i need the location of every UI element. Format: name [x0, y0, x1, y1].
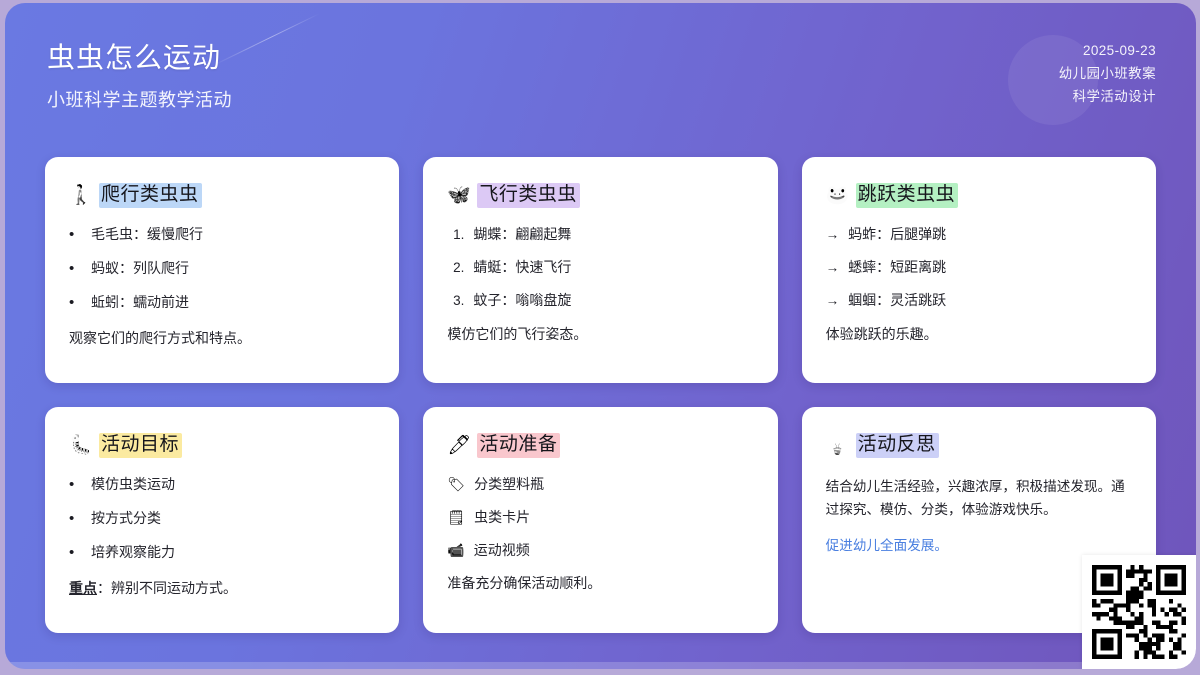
slide-header: 虫虫怎么运动 小班科学主题教学活动 2025-09-23 幼儿园小班教案 科学活… — [47, 39, 1156, 112]
list-item-text: 蜻蜓：快速飞行 — [473, 258, 571, 277]
list-item: •按方式分类 — [69, 509, 375, 529]
card: 🐛活动目标•模仿虫类运动•按方式分类•培养观察能力重点：辨别不同运动方式。 — [45, 407, 399, 633]
card-header: 🐛活动目标 — [69, 433, 375, 458]
list-marker: • — [69, 509, 82, 529]
card: 🖊活动准备🏷分类塑料瓶🗒虫类卡片📹运动视频准备充分确保活动顺利。 — [423, 407, 777, 633]
list-marker: 🏷 — [447, 475, 465, 494]
card-header: 🦋飞行类虫虫 — [447, 183, 753, 208]
card-header: 🐸跳跃类虫虫 — [826, 183, 1132, 208]
meta-subject: 科学活动设计 — [1059, 85, 1156, 108]
header-titles: 虫虫怎么运动 小班科学主题教学活动 — [47, 39, 232, 112]
decorative-bottom-strip — [5, 662, 1196, 669]
list-item: 🗒虫类卡片 — [447, 508, 753, 527]
list-marker: → — [826, 259, 840, 277]
list-item-text: 蚊子：嗡嗡盘旋 — [473, 291, 571, 310]
card-list: →蚂蚱：后腿弹跳→蟋蟀：短距离跳→蝈蝈：灵活跳跃 — [826, 225, 1132, 311]
list-item: 📹运动视频 — [447, 541, 753, 560]
card-list: 🏷分类塑料瓶🗒虫类卡片📹运动视频 — [447, 475, 753, 560]
list-item-text: 培养观察能力 — [91, 543, 175, 562]
meta-date: 2025-09-23 — [1059, 39, 1156, 62]
butterfly-icon: 🦋 — [447, 186, 469, 205]
list-item: →蚂蚱：后腿弹跳 — [826, 225, 1132, 244]
list-item: →蟋蟀：短距离跳 — [826, 258, 1132, 277]
list-marker: 📹 — [447, 541, 464, 560]
card: 🦋飞行类虫虫1.蝴蝶：翩翩起舞2.蜻蜓：快速飞行3.蚊子：嗡嗡盘旋模仿它们的飞行… — [423, 157, 777, 383]
card-paragraph: 结合幼儿生活经验，兴趣浓厚，积极描述发现。通过探究、模仿、分类，体验游戏快乐。 — [826, 475, 1132, 522]
slide-frame: 虫虫怎么运动 小班科学主题教学活动 2025-09-23 幼儿园小班教案 科学活… — [0, 0, 1200, 675]
card: 🐸跳跃类虫虫→蚂蚱：后腿弹跳→蟋蟀：短距离跳→蝈蝈：灵活跳跃体验跳跃的乐趣。 — [802, 157, 1156, 383]
list-item: →蝈蝈：灵活跳跃 — [826, 291, 1132, 310]
list-item: 3.蚊子：嗡嗡盘旋 — [447, 291, 753, 310]
lightbulb-icon: 💡 — [826, 436, 848, 455]
card-list: •模仿虫类运动•按方式分类•培养观察能力 — [69, 475, 375, 564]
card: 🚶爬行类虫虫•毛毛虫：缓慢爬行•蚂蚁：列队爬行•蚯蚓：蠕动前进观察它们的爬行方式… — [45, 157, 399, 383]
page-subtitle: 小班科学主题教学活动 — [47, 86, 232, 112]
card-header: 🖊活动准备 — [447, 433, 753, 458]
list-item-text: 毛毛虫：缓慢爬行 — [91, 225, 203, 244]
card-title: 跳跃类虫虫 — [856, 183, 959, 208]
list-marker: • — [69, 475, 82, 495]
list-marker: 3. — [447, 292, 464, 310]
card-highlight-text[interactable]: 促进幼儿全面发展。 — [826, 535, 1132, 557]
list-marker: • — [69, 293, 82, 313]
list-item-text: 蝈蝈：灵活跳跃 — [848, 291, 946, 310]
list-item: 2.蜻蜓：快速飞行 — [447, 258, 753, 277]
card-note: 模仿它们的飞行姿态。 — [447, 324, 753, 346]
list-marker: → — [826, 292, 840, 310]
list-marker: → — [826, 226, 840, 244]
list-item: •培养观察能力 — [69, 543, 375, 563]
card-title: 活动目标 — [99, 433, 182, 458]
card-header: 🚶爬行类虫虫 — [69, 183, 375, 208]
list-item-text: 蚯蚓：蠕动前进 — [91, 293, 189, 312]
qr-code-box — [1082, 555, 1196, 669]
list-item: •模仿虫类运动 — [69, 475, 375, 495]
list-item: 🏷分类塑料瓶 — [447, 475, 753, 494]
card-note: 准备充分确保活动顺利。 — [447, 573, 753, 595]
card-note: 观察它们的爬行方式和特点。 — [69, 328, 375, 350]
card-list: •毛毛虫：缓慢爬行•蚂蚁：列队爬行•蚯蚓：蠕动前进 — [69, 225, 375, 314]
list-item-text: 模仿虫类运动 — [91, 475, 175, 494]
bug-icon: 🐛 — [69, 436, 91, 455]
card-note: 重点：辨别不同运动方式。 — [69, 578, 375, 600]
note-emphasis: 重点 — [69, 580, 97, 596]
slide-canvas: 虫虫怎么运动 小班科学主题教学活动 2025-09-23 幼儿园小班教案 科学活… — [5, 3, 1196, 669]
list-item-text: 蟋蟀：短距离跳 — [848, 258, 946, 277]
card-list: 1.蝴蝶：翩翩起舞2.蜻蜓：快速飞行3.蚊子：嗡嗡盘旋 — [447, 225, 753, 311]
card-title: 活动准备 — [477, 433, 560, 458]
list-item-text: 分类塑料瓶 — [474, 475, 544, 494]
header-meta: 2025-09-23 幼儿园小班教案 科学活动设计 — [1059, 39, 1156, 109]
list-item-text: 按方式分类 — [91, 509, 161, 528]
list-item: •蚯蚓：蠕动前进 — [69, 293, 375, 313]
note-rest: ：辨别不同运动方式。 — [97, 580, 237, 596]
list-item-text: 蝴蝶：翩翩起舞 — [473, 225, 571, 244]
card-header: 💡活动反思 — [826, 433, 1132, 458]
list-item-text: 蚂蚁：列队爬行 — [91, 259, 189, 278]
list-item: 1.蝴蝶：翩翩起舞 — [447, 225, 753, 244]
list-marker: • — [69, 543, 82, 563]
card-note: 体验跳跃的乐趣。 — [826, 324, 1132, 346]
walking-person-icon: 🚶 — [69, 186, 91, 205]
list-marker: 🗒 — [447, 508, 465, 527]
list-item-text: 运动视频 — [474, 541, 530, 560]
card-title: 活动反思 — [856, 433, 939, 458]
meta-category: 幼儿园小班教案 — [1059, 62, 1156, 85]
card-title: 飞行类虫虫 — [477, 183, 580, 208]
list-marker: 1. — [447, 226, 464, 244]
page-title: 虫虫怎么运动 — [47, 39, 232, 77]
card-title: 爬行类虫虫 — [99, 183, 202, 208]
list-item-text: 虫类卡片 — [474, 508, 530, 527]
qr-code-image — [1092, 565, 1186, 659]
list-marker: 2. — [447, 259, 464, 277]
list-item-text: 蚂蚱：后腿弹跳 — [848, 225, 946, 244]
pen-icon: 🖊 — [447, 436, 469, 455]
list-item: •毛毛虫：缓慢爬行 — [69, 225, 375, 245]
list-item: •蚂蚁：列队爬行 — [69, 259, 375, 279]
card-grid: 🚶爬行类虫虫•毛毛虫：缓慢爬行•蚂蚁：列队爬行•蚯蚓：蠕动前进观察它们的爬行方式… — [45, 157, 1156, 633]
frog-icon: 🐸 — [826, 186, 848, 205]
list-marker: • — [69, 225, 82, 245]
list-marker: • — [69, 259, 82, 279]
